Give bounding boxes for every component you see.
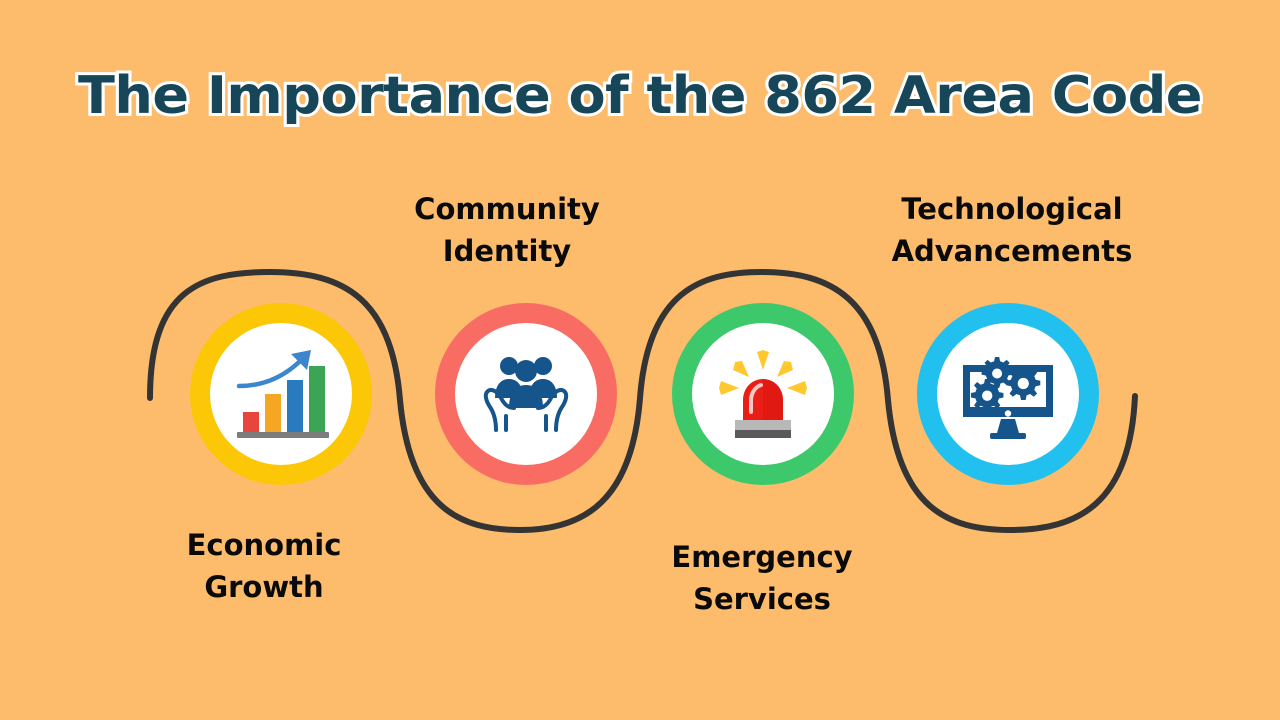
node-technological-advancements[interactable] [917, 303, 1099, 485]
emergency-siren-light-icon [711, 344, 815, 444]
icon-disc-emergency-services [692, 323, 834, 465]
label-technological-advancements: Technological Advancements [862, 188, 1162, 272]
node-emergency-services[interactable] [672, 303, 854, 485]
people-in-hands-icon [478, 346, 574, 442]
node-economic-growth[interactable] [190, 303, 372, 485]
label-community-identity: Community Identity [357, 188, 657, 272]
icon-disc-technological-advancements [937, 323, 1079, 465]
page-title: The Importance of the 862 Area Code [0, 66, 1280, 126]
icon-disc-community-identity [455, 323, 597, 465]
bar-chart-growth-icon [229, 344, 333, 444]
icon-disc-economic-growth [210, 323, 352, 465]
label-emergency-services: Emergency Services [612, 536, 912, 620]
label-economic-growth: Economic Growth [114, 524, 414, 608]
infographic-canvas: The Importance of the 862 Area Code Econ… [0, 0, 1280, 720]
node-community-identity[interactable] [435, 303, 617, 485]
monitor-with-gears-icon [957, 345, 1059, 443]
